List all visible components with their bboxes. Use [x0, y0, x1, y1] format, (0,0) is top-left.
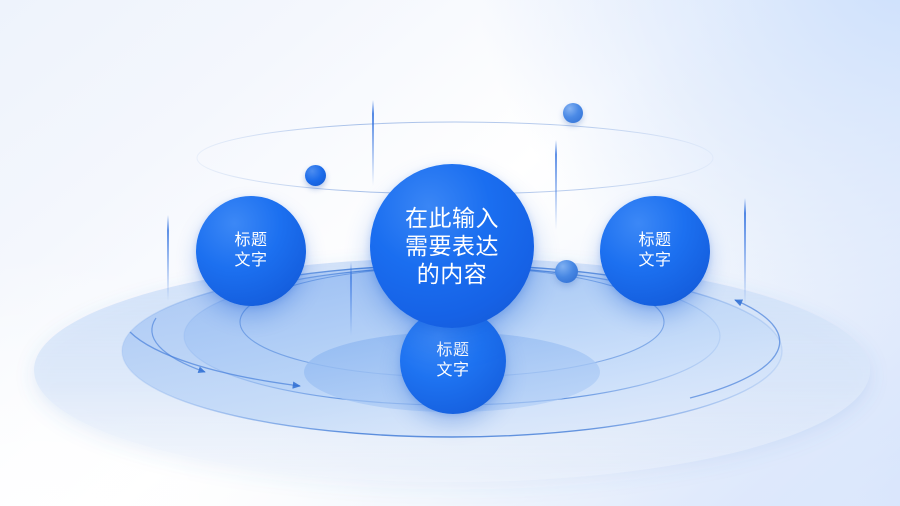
sphere-left-on-ring-icon — [305, 165, 326, 186]
accent-line-1 — [167, 215, 169, 301]
node-bottom-line1: 标题 — [436, 341, 469, 361]
node-right[interactable]: 标题 文字 — [600, 196, 710, 306]
node-left[interactable]: 标题 文字 — [196, 196, 306, 306]
node-center-line2: 需要表达 — [405, 232, 499, 260]
node-center[interactable]: 在此输入 需要表达 的内容 — [370, 164, 534, 328]
accent-line-2 — [372, 100, 374, 186]
node-left-line1: 标题 — [234, 231, 267, 251]
sphere-top-right-icon — [563, 103, 583, 123]
node-left-label: 标题 文字 — [234, 231, 267, 270]
slide-canvas: 标题 文字 标题 文字 标题 文字 在此输入 需要表达 的内容 — [0, 0, 900, 506]
accent-line-3 — [350, 262, 352, 336]
accent-line-5 — [744, 198, 746, 306]
node-bottom-label: 标题 文字 — [436, 341, 469, 380]
node-right-line2: 文字 — [638, 251, 671, 271]
node-right-label: 标题 文字 — [638, 231, 671, 270]
node-left-line2: 文字 — [234, 251, 267, 271]
node-center-line3: 的内容 — [405, 260, 499, 288]
node-right-line1: 标题 — [638, 231, 671, 251]
sphere-center-right-icon — [555, 260, 578, 283]
node-bottom-line2: 文字 — [436, 361, 469, 381]
node-center-line1: 在此输入 — [405, 204, 499, 232]
accent-line-4 — [555, 140, 557, 230]
node-center-label: 在此输入 需要表达 的内容 — [405, 204, 499, 288]
